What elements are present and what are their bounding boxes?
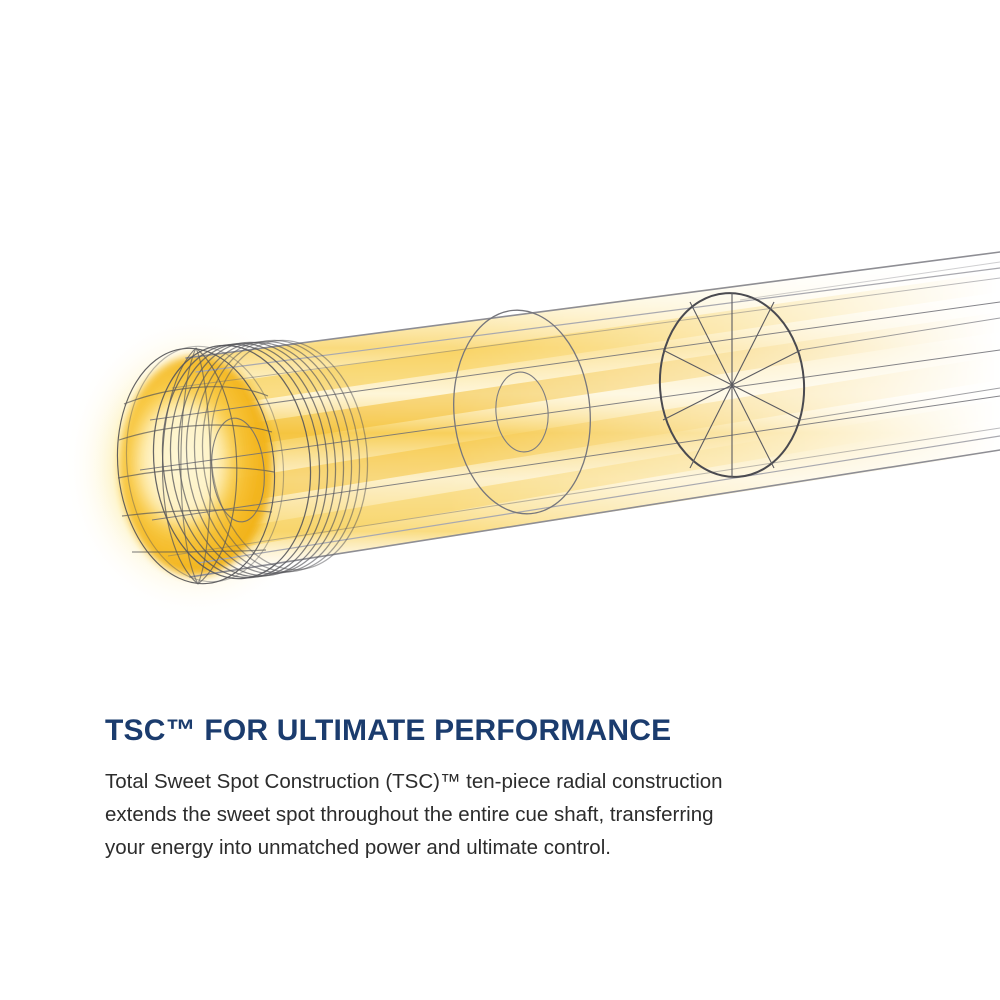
cue-shaft-cutaway-diagram <box>0 0 1000 690</box>
shaft-interior-glow <box>150 250 1000 577</box>
description-line-1: Total Sweet Spot Construction (TSC)™ ten… <box>105 765 905 798</box>
feature-caption: TSC™ FOR ULTIMATE PERFORMANCE Total Swee… <box>105 714 915 864</box>
page-title: TSC™ FOR ULTIMATE PERFORMANCE <box>105 714 915 749</box>
feature-description: Total Sweet Spot Construction (TSC)™ ten… <box>105 765 905 865</box>
product-feature-panel: TSC™ FOR ULTIMATE PERFORMANCE Total Swee… <box>0 0 1000 1000</box>
description-line-2: extends the sweet spot throughout the en… <box>105 798 905 831</box>
description-line-3: your energy into unmatched power and ult… <box>105 831 905 864</box>
